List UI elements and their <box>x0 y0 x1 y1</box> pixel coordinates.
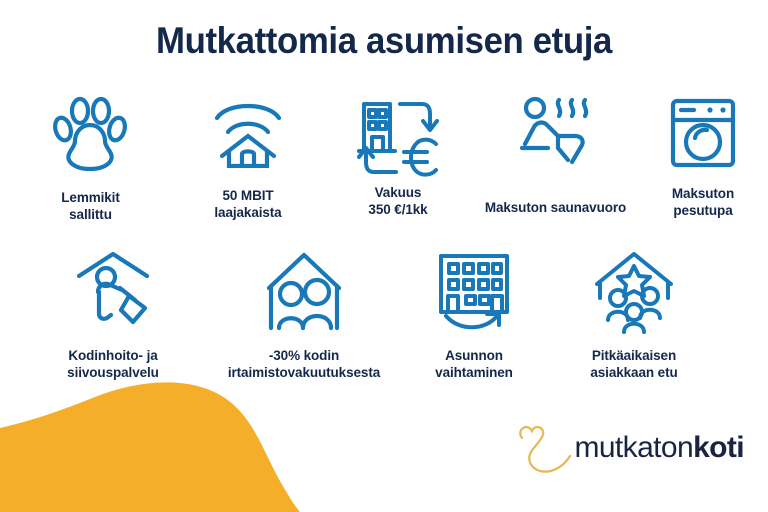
washing-machine-icon <box>668 96 738 174</box>
benefit-item-loyalty[interactable]: Pitkäaikaisen asiakkaan etu <box>548 252 720 381</box>
brand-wordmark: mutkatonkoti <box>574 433 744 463</box>
benefit-item-broadband[interactable]: 50 MBIT laajakaista <box>173 96 323 223</box>
amber-blob <box>0 377 310 512</box>
benefit-item-insurance-discount[interactable]: -30% kodin irtaimistovakuutuksesta <box>208 252 400 381</box>
benefits-row-1: Lemmikit sallittu 50 MBIT laajakaista <box>0 96 768 223</box>
benefit-item-apartment-swap[interactable]: Asunnon vaihtaminen <box>400 252 548 381</box>
benefit-label: Vakuus 350 €/1kk <box>368 185 427 218</box>
paw-print-icon <box>51 96 131 180</box>
benefit-label: Pitkäaikaisen asiakkaan etu <box>590 348 677 381</box>
benefit-item-laundry[interactable]: Maksuton pesutupa <box>638 96 768 223</box>
heart-swoosh-mark <box>510 420 572 476</box>
brand-logo[interactable]: mutkatonkoti <box>510 420 744 476</box>
brand-word-bold: koti <box>693 431 744 464</box>
benefits-row-2: Kodinhoito- ja siivouspalvelu -30% kodin… <box>0 252 768 381</box>
page-title: Mutkattomia asumisen etuja <box>23 18 745 64</box>
brand-word-light: mutkaton <box>574 431 693 464</box>
benefit-label: Asunnon vaihtaminen <box>435 348 513 381</box>
sauna-person-icon <box>512 96 600 180</box>
benefit-item-cleaning[interactable]: Kodinhoito- ja siivouspalvelu <box>18 252 208 381</box>
benefit-item-deposit[interactable]: Vakuus 350 €/1kk <box>323 96 473 223</box>
benefit-item-pets[interactable]: Lemmikit sallittu <box>8 96 173 223</box>
benefit-label: 50 MBIT laajakaista <box>214 188 281 221</box>
apartment-swap-icon <box>434 252 514 334</box>
house-family-icon <box>259 252 349 338</box>
benefit-label: Lemmikit sallittu <box>61 190 119 223</box>
benefit-label: -30% kodin irtaimistovakuutuksesta <box>228 348 380 381</box>
benefit-item-sauna[interactable]: Maksuton saunavuoro <box>473 96 638 223</box>
benefit-label: Maksuton pesutupa <box>672 186 734 219</box>
benefit-label: Maksuton saunavuoro <box>485 200 626 217</box>
wifi-house-icon <box>209 96 287 172</box>
benefit-label: Kodinhoito- ja siivouspalvelu <box>67 348 159 381</box>
cleaning-person-icon <box>71 252 155 334</box>
house-star-family-icon <box>589 252 679 334</box>
deposit-exchange-icon <box>354 96 442 180</box>
